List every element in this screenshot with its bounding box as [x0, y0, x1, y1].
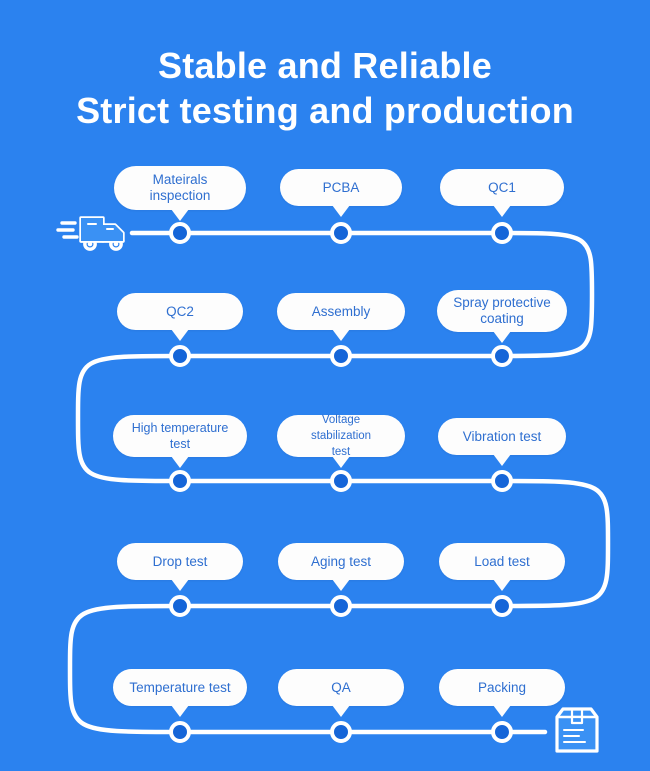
- flow-node-8[interactable]: [330, 470, 352, 492]
- flow-node-11[interactable]: [330, 595, 352, 617]
- pill-tail-5: [332, 329, 350, 341]
- flow-node-12[interactable]: [491, 595, 513, 617]
- flow-node-2[interactable]: [330, 222, 352, 244]
- flow-step-label-7-line-2: test: [170, 437, 190, 451]
- package-box-icon: [549, 703, 605, 759]
- flow-step-label-13: Temperature test: [129, 680, 230, 696]
- flow-node-13[interactable]: [169, 721, 191, 743]
- pill-tail-6: [493, 331, 511, 343]
- flow-node-10[interactable]: [169, 595, 191, 617]
- flow-node-6[interactable]: [491, 345, 513, 367]
- flow-node-5[interactable]: [330, 345, 352, 367]
- pill-tail-10: [171, 579, 189, 591]
- process-flow-infographic: Stable and Reliable Strict testing and p…: [0, 0, 650, 771]
- pill-tail-9: [493, 454, 511, 466]
- flow-step-label-2: PCBA: [323, 180, 360, 196]
- flow-step-label-1-line-2: inspection: [150, 188, 211, 203]
- pill-tail-13: [171, 705, 189, 717]
- pill-tail-1: [171, 209, 189, 221]
- flow-step-label-10: Drop test: [153, 554, 208, 570]
- flow-step-label-5: Assembly: [312, 304, 371, 320]
- pill-tail-12: [493, 579, 511, 591]
- pill-tail-11: [332, 579, 350, 591]
- flow-step-label-3: QC1: [488, 180, 516, 196]
- flow-step-pill-10[interactable]: Drop test: [117, 543, 243, 580]
- flow-node-9[interactable]: [491, 470, 513, 492]
- delivery-truck-icon: [55, 207, 137, 257]
- flow-step-label-8-line-1: Voltage stabilization: [311, 414, 371, 442]
- flow-step-pill-7[interactable]: High temperature test: [113, 415, 247, 457]
- pill-tail-3: [493, 205, 511, 217]
- flow-path: [0, 0, 650, 771]
- flow-node-14[interactable]: [330, 721, 352, 743]
- flow-node-4[interactable]: [169, 345, 191, 367]
- flow-step-pill-8[interactable]: Voltage stabilization test: [277, 415, 405, 457]
- flow-step-pill-5[interactable]: Assembly: [277, 293, 405, 330]
- flow-step-pill-3[interactable]: QC1: [440, 169, 564, 206]
- flow-step-pill-15[interactable]: Packing: [439, 669, 565, 706]
- flow-step-pill-9[interactable]: Vibration test: [438, 418, 566, 455]
- flow-node-1[interactable]: [169, 222, 191, 244]
- flow-step-pill-2[interactable]: PCBA: [280, 169, 402, 206]
- flow-step-pill-4[interactable]: QC2: [117, 293, 243, 330]
- flow-step-label-11: Aging test: [311, 554, 371, 570]
- flow-node-3[interactable]: [491, 222, 513, 244]
- flow-node-15[interactable]: [491, 721, 513, 743]
- flow-step-pill-12[interactable]: Load test: [439, 543, 565, 580]
- flow-step-pill-6[interactable]: Spray protective coating: [437, 290, 567, 332]
- flow-step-pill-1[interactable]: Mateirals inspection: [114, 166, 246, 210]
- flow-step-label-15: Packing: [478, 680, 526, 696]
- flow-step-label-7-line-1: High temperature: [132, 421, 229, 435]
- pill-tail-14: [332, 705, 350, 717]
- pill-tail-15: [493, 705, 511, 717]
- flow-node-7[interactable]: [169, 470, 191, 492]
- pill-tail-4: [171, 329, 189, 341]
- flow-step-label-4: QC2: [166, 304, 194, 320]
- flow-step-label-6-line-2: coating: [480, 311, 524, 326]
- flow-step-label-9: Vibration test: [463, 429, 542, 445]
- flow-step-label-6-line-1: Spray protective: [453, 295, 551, 310]
- flow-step-pill-11[interactable]: Aging test: [278, 543, 404, 580]
- pill-tail-7: [171, 456, 189, 468]
- flow-step-label-14: QA: [331, 680, 351, 696]
- pill-tail-2: [332, 205, 350, 217]
- flow-step-label-12: Load test: [474, 554, 530, 570]
- flow-step-pill-13[interactable]: Temperature test: [113, 669, 247, 706]
- pill-tail-8: [332, 456, 350, 468]
- flow-step-label-1-line-1: Mateirals: [153, 172, 208, 187]
- flow-step-pill-14[interactable]: QA: [278, 669, 404, 706]
